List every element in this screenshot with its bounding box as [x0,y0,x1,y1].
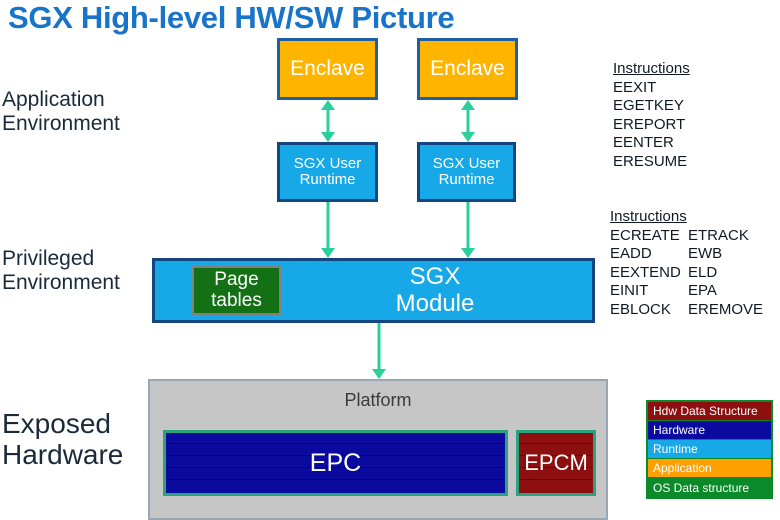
instruction-item: EWB [688,245,763,264]
page-tables-box: Pagetables [192,266,281,315]
arrow-enclave-runtime-left [320,100,336,142]
instruction-item: EGETKEY [613,97,687,116]
instruction-item: ERESUME [613,153,687,172]
tier-label-privileged: PrivilegedEnvironment [2,247,120,294]
instruction-item: EADD [610,245,688,264]
legend-row: Application [648,459,771,478]
arrow-module-platform [371,323,387,379]
instruction-item: EEXIT [613,79,687,98]
sgx-user-runtime-box-left: SGX UserRuntime [277,142,378,202]
instructions-application-heading: Instructions [613,60,690,79]
instructions-privileged-column-2: ETRACK EWB ELD EPA EREMOVE [688,227,763,320]
legend-row: OS Data structure [648,478,771,497]
instructions-privileged-heading: Instructions [610,208,763,227]
instruction-item: EINIT [610,282,688,301]
legend-row: Runtime [648,440,771,459]
sgx-user-runtime-box-right: SGX UserRuntime [417,142,516,202]
legend-row: Hdw Data Structure [648,402,771,421]
tier-label-application: ApplicationEnvironment [2,88,120,135]
instructions-privileged: Instructions ECREATE EADD EEXTEND EINIT … [610,208,763,320]
arrow-runtime-module-right [460,202,476,258]
page-title: SGX High-level HW/SW Picture [8,0,454,36]
epcm-label: EPCM [519,433,593,493]
instruction-item: ECREATE [610,227,688,246]
epc-label: EPC [166,433,505,493]
arrow-runtime-module-left [320,202,336,258]
epc-block: EPC [163,430,508,496]
instruction-item: EREPORT [613,116,687,135]
instruction-item: ELD [688,264,763,283]
platform-label: Platform [150,390,606,411]
instructions-application-column-1: EEXIT EGETKEY EREPORT EENTER ERESUME [613,79,687,172]
instructions-application: Instructions EEXIT EGETKEY EREPORT EENTE… [613,60,690,172]
legend-row: Hardware [648,421,771,440]
platform-container: Platform EPC EPCM [148,379,608,520]
instruction-item: EPA [688,282,763,301]
arrow-enclave-runtime-right [460,100,476,142]
enclave-box-right: Enclave [417,38,518,100]
enclave-box-left: Enclave [277,38,378,100]
sgx-module-label: SGXModule [340,261,530,320]
instruction-item: ETRACK [688,227,763,246]
epcm-block: EPCM [516,430,596,496]
instruction-item: EEXTEND [610,264,688,283]
tier-label-hardware: ExposedHardware [2,408,123,471]
instruction-item: EBLOCK [610,301,688,320]
legend: Hdw Data Structure Hardware Runtime Appl… [646,400,773,499]
instruction-item: EREMOVE [688,301,763,320]
instructions-privileged-column-1: ECREATE EADD EEXTEND EINIT EBLOCK [610,227,688,320]
instruction-item: EENTER [613,134,687,153]
diagram-canvas: SGX High-level HW/SW Picture Application… [0,0,780,520]
